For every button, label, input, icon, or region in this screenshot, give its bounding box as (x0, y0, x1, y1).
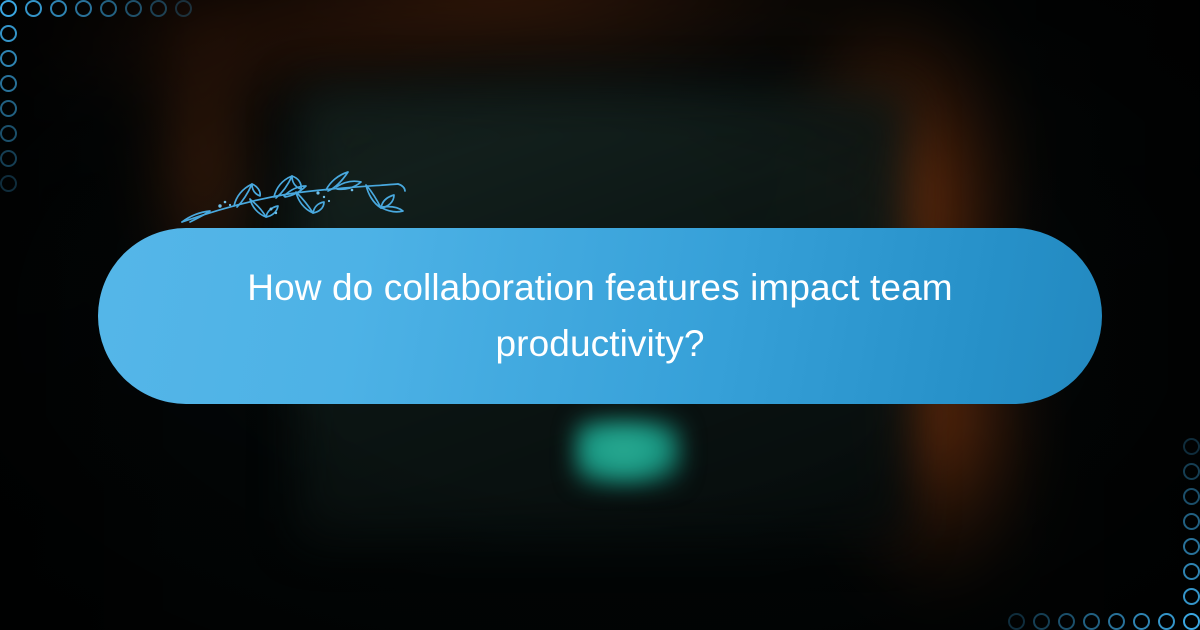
headline-banner: How do collaboration features impact tea… (98, 228, 1102, 404)
headline-text: How do collaboration features impact tea… (230, 260, 970, 372)
social-card: How do collaboration features impact tea… (0, 0, 1200, 630)
